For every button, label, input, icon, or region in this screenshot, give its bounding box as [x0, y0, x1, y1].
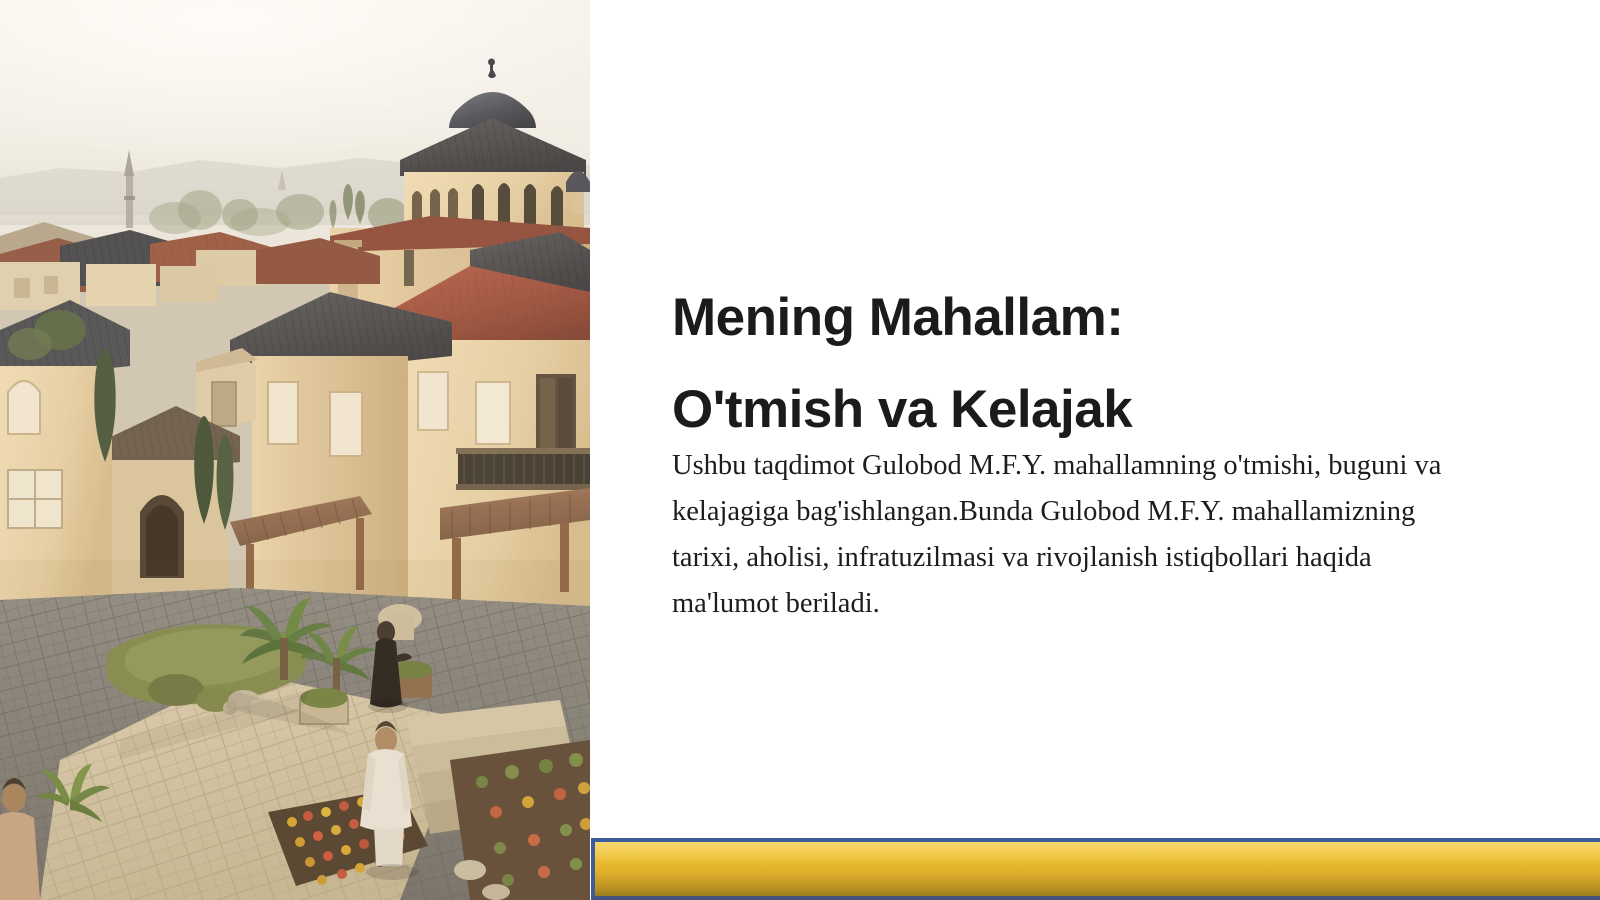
- slide-title: Mening Mahallam: O'tmish va Kelajak: [672, 272, 1512, 456]
- bottom-accent-bar: [591, 838, 1600, 900]
- presentation-slide: Mening Mahallam: O'tmish va Kelajak Ushb…: [0, 0, 1600, 900]
- title-line-1: Mening Mahallam:: [672, 272, 1512, 364]
- slide-body-block: Ushbu taqdimot Gulobod M.F.Y. mahallamni…: [672, 443, 1472, 627]
- mahalla-photo-illustration: [0, 0, 590, 900]
- text-panel: Mening Mahallam: O'tmish va Kelajak Ushb…: [590, 0, 1600, 900]
- mahalla-photo: [0, 0, 590, 900]
- bar-sheen: [595, 842, 1600, 864]
- slide-body-text: Ushbu taqdimot Gulobod M.F.Y. mahallamni…: [672, 443, 1472, 627]
